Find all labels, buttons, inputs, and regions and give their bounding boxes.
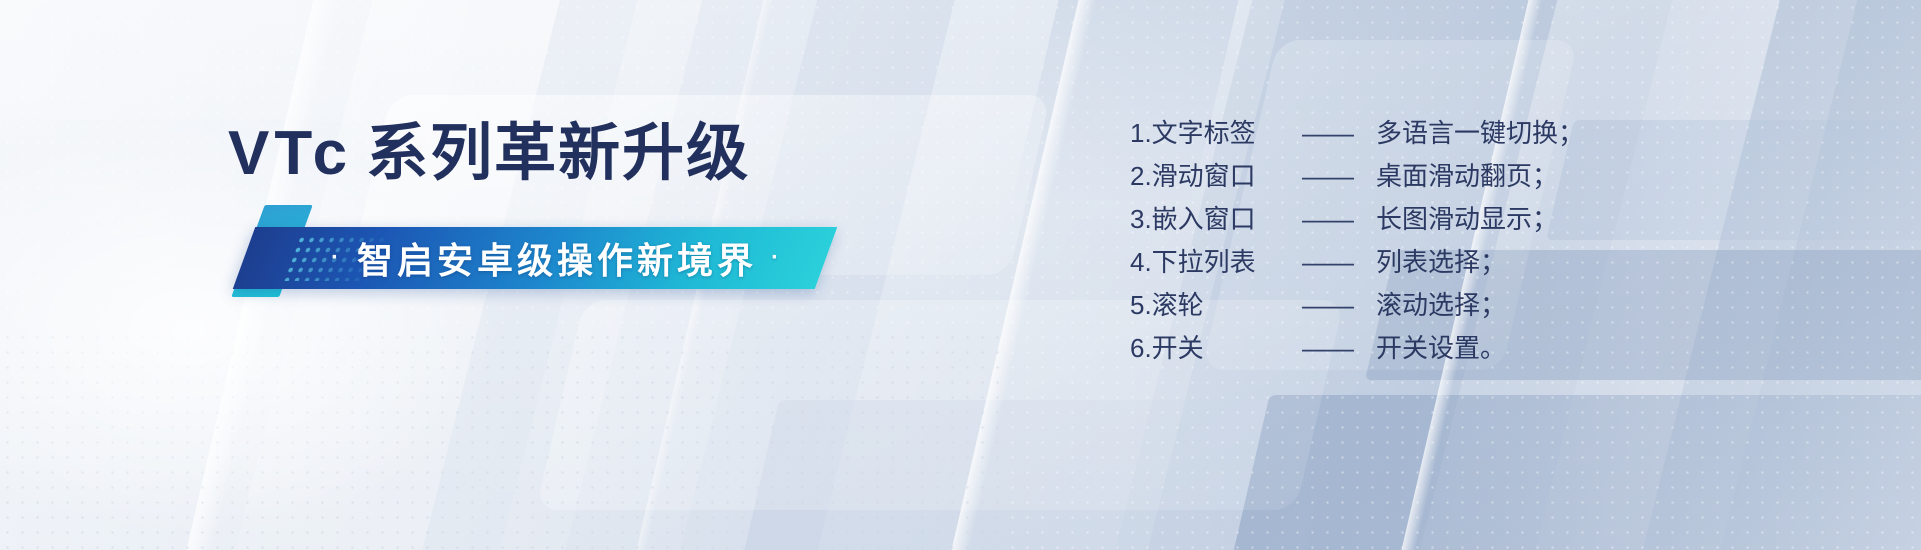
feature-name: 5.滚轮 bbox=[1130, 284, 1302, 327]
bullet-right-icon: · bbox=[771, 244, 783, 272]
feature-dash: —— bbox=[1302, 241, 1376, 284]
ribbon-slogan: 智启安卓级操作新境界 bbox=[357, 232, 757, 284]
feature-list: 1.文字标签 —— 多语言一键切换； 2.滑动窗口 —— 桌面滑动翻页； 3.嵌… bbox=[1130, 112, 1584, 370]
feature-name: 2.滑动窗口 bbox=[1130, 155, 1302, 198]
feature-name: 6.开关 bbox=[1130, 327, 1302, 370]
feature-item: 3.嵌入窗口 —— 长图滑动显示； bbox=[1130, 198, 1584, 241]
product-banner: VTc系列革新升级 · 智启安卓级操作新境界 · 1.文字标签 —— 多语言一键… bbox=[0, 0, 1921, 550]
feature-item: 4.下拉列表 —— 列表选择； bbox=[1130, 241, 1584, 284]
subtitle-ribbon: · 智启安卓级操作新境界 · bbox=[238, 205, 838, 305]
feature-dash: —— bbox=[1302, 327, 1376, 370]
feature-description: 开关设置。 bbox=[1376, 327, 1506, 370]
feature-dash: —— bbox=[1302, 155, 1376, 198]
bullet-left-icon: · bbox=[331, 244, 343, 272]
feature-item: 1.文字标签 —— 多语言一键切换； bbox=[1130, 112, 1584, 155]
feature-description: 长图滑动显示； bbox=[1376, 198, 1558, 241]
feature-item: 2.滑动窗口 —— 桌面滑动翻页； bbox=[1130, 155, 1584, 198]
feature-name: 3.嵌入窗口 bbox=[1130, 198, 1302, 241]
feature-name: 1.文字标签 bbox=[1130, 112, 1302, 155]
feature-description: 多语言一键切换； bbox=[1376, 112, 1584, 155]
feature-dash: —— bbox=[1302, 284, 1376, 327]
product-model-name: VTc bbox=[228, 119, 352, 188]
feature-item: 6.开关 —— 开关设置。 bbox=[1130, 327, 1584, 370]
feature-dash: —— bbox=[1302, 112, 1376, 155]
feature-name: 4.下拉列表 bbox=[1130, 241, 1302, 284]
banner-headline: VTc系列革新升级 bbox=[228, 123, 750, 185]
headline-tagline: 系列革新升级 bbox=[366, 119, 750, 188]
feature-description: 桌面滑动翻页； bbox=[1376, 155, 1558, 198]
ribbon-text-row: · 智启安卓级操作新境界 · bbox=[266, 227, 848, 289]
banner-content: VTc系列革新升级 · 智启安卓级操作新境界 · 1.文字标签 —— 多语言一键… bbox=[0, 0, 1921, 550]
feature-item: 5.滚轮 —— 滚动选择； bbox=[1130, 284, 1584, 327]
feature-dash: —— bbox=[1302, 198, 1376, 241]
feature-description: 滚动选择； bbox=[1376, 284, 1506, 327]
feature-description: 列表选择； bbox=[1376, 241, 1506, 284]
